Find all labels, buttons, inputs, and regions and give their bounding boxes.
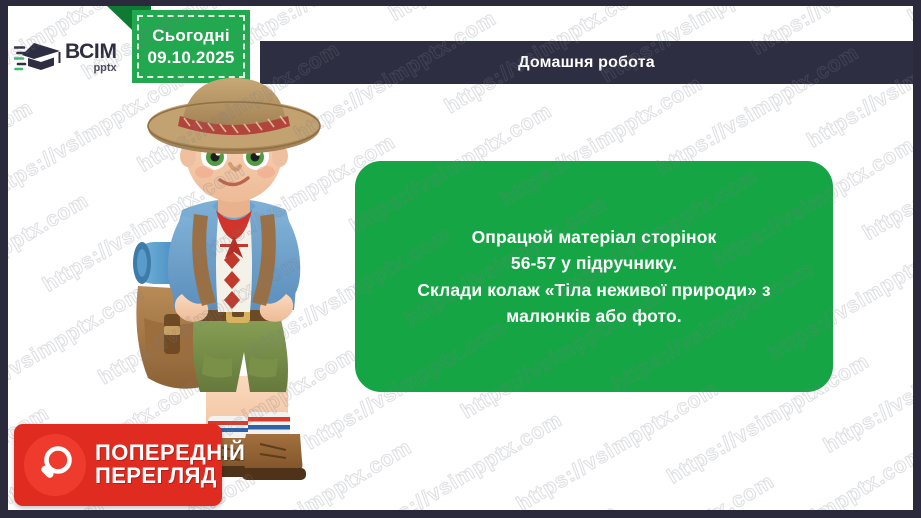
preview-badge-line2: ПЕРЕГЛЯД — [95, 465, 245, 488]
brand-name: ВСІМ — [65, 41, 117, 62]
slide-title-bar: Домашня робота — [260, 41, 913, 84]
page-title: Домашня робота — [518, 54, 655, 72]
preview-badge[interactable]: ПОПЕРЕДНІЙ ПЕРЕГЛЯД — [14, 424, 222, 506]
assignment-panel: Опрацюй матеріал сторінок 56-57 у підруч… — [355, 161, 833, 392]
brand-sub: pptx — [65, 63, 117, 74]
preview-badge-line1: ПОПЕРЕДНІЙ — [95, 442, 245, 465]
brand-logo[interactable]: ВСІМ pptx — [8, 28, 120, 86]
date-tag-label: Сьогодні — [152, 26, 230, 46]
assignment-text: Опрацюй матеріал сторінок 56-57 у підруч… — [417, 224, 770, 329]
graduation-cap-icon — [14, 37, 64, 77]
slide-canvas: https://vsimpptx.comhttps://vsimpptx.com… — [8, 6, 913, 510]
magnifier-icon — [24, 434, 86, 496]
